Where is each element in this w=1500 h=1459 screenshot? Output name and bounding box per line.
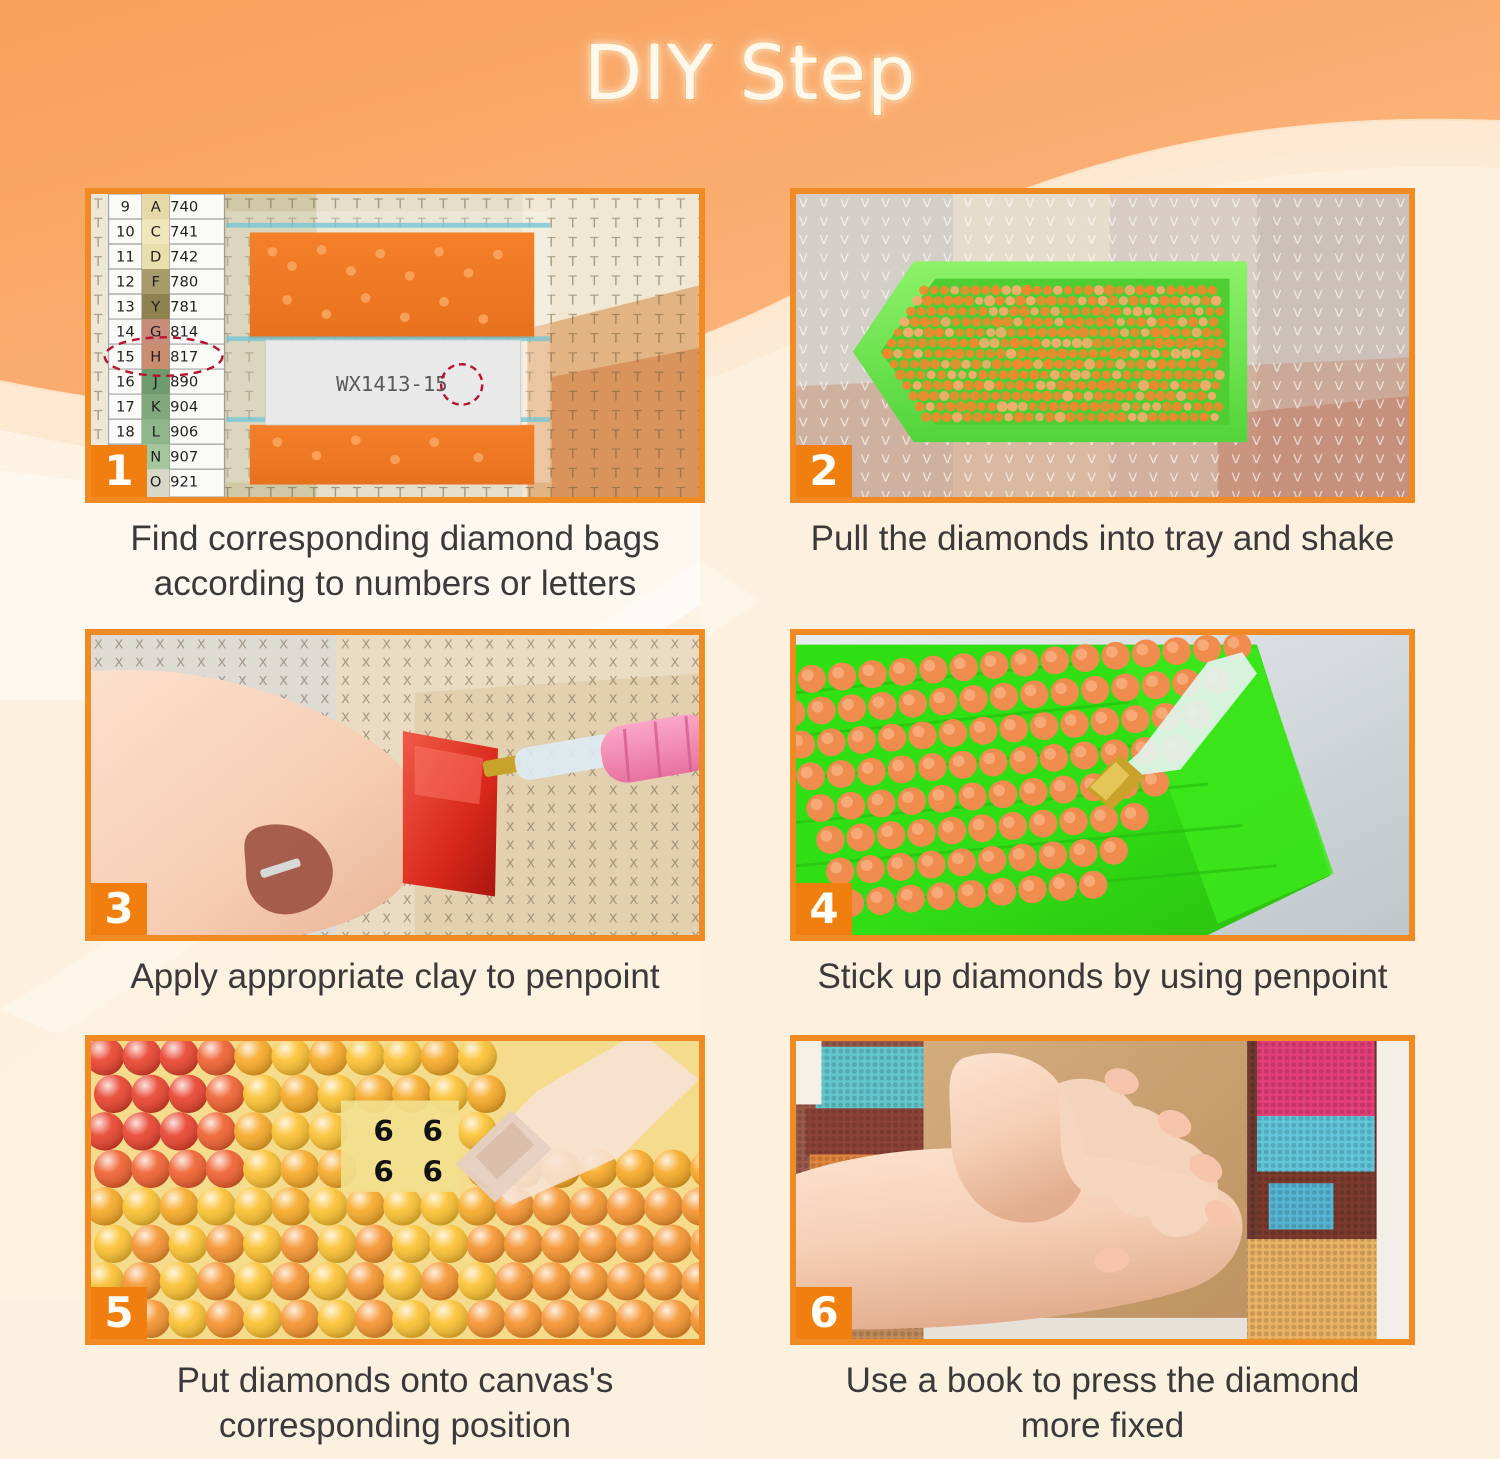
svg-text:17: 17 bbox=[116, 399, 135, 416]
step-caption-1: Find corresponding diamond bags accordin… bbox=[85, 503, 705, 629]
svg-text:6: 6 bbox=[422, 1114, 442, 1148]
svg-text:K: K bbox=[151, 399, 161, 416]
svg-text:907: 907 bbox=[170, 449, 198, 466]
diamond-bag: WX1413-15 bbox=[226, 211, 550, 484]
svg-text:742: 742 bbox=[170, 248, 198, 265]
svg-text:780: 780 bbox=[170, 273, 198, 290]
svg-text:904: 904 bbox=[170, 399, 198, 416]
steps-grid: T bbox=[85, 188, 1415, 1459]
svg-text:817: 817 bbox=[170, 348, 198, 365]
step-card-5: 6666 5 Put diamonds onto canvas's corres… bbox=[85, 1035, 705, 1459]
svg-text:906: 906 bbox=[170, 424, 198, 441]
svg-text:6: 6 bbox=[422, 1155, 442, 1189]
red-clay bbox=[403, 731, 498, 896]
svg-text:H: H bbox=[150, 348, 161, 365]
svg-text:9: 9 bbox=[121, 198, 130, 215]
svg-text:N: N bbox=[150, 449, 161, 466]
svg-text:11: 11 bbox=[116, 248, 135, 265]
svg-text:10: 10 bbox=[116, 223, 135, 240]
step-caption-3: Apply appropriate clay to penpoint bbox=[85, 941, 705, 1035]
step-badge-6: 6 bbox=[796, 1287, 852, 1339]
svg-text:781: 781 bbox=[170, 298, 198, 315]
step-6-photo bbox=[796, 1041, 1409, 1339]
artwork-right bbox=[1242, 1041, 1409, 1339]
step-caption-4: Stick up diamonds by using penpoint bbox=[790, 941, 1415, 1035]
step-3-image-frame: X bbox=[85, 629, 705, 941]
svg-text:6: 6 bbox=[373, 1155, 393, 1189]
step-1-image-frame: T bbox=[85, 188, 705, 503]
step-2-image-frame: V bbox=[790, 188, 1415, 503]
svg-text:921: 921 bbox=[170, 474, 198, 491]
step-badge-3: 3 bbox=[91, 883, 147, 935]
svg-text:741: 741 bbox=[170, 223, 198, 240]
svg-text:Y: Y bbox=[150, 298, 160, 315]
svg-text:16: 16 bbox=[116, 374, 135, 391]
step-5-image-frame: 6666 5 bbox=[85, 1035, 705, 1345]
svg-text:13: 13 bbox=[116, 298, 135, 315]
step-card-3: X bbox=[85, 629, 705, 1035]
bag-label-text: WX1413-15 bbox=[336, 372, 447, 396]
svg-text:890: 890 bbox=[170, 374, 198, 391]
step-3-photo: X bbox=[91, 635, 699, 935]
svg-text:12: 12 bbox=[116, 273, 135, 290]
svg-text:O: O bbox=[150, 474, 162, 491]
step-5-photo: 6666 bbox=[91, 1041, 699, 1339]
svg-text:L: L bbox=[152, 424, 161, 441]
step-4-photo bbox=[796, 635, 1409, 935]
svg-text:D: D bbox=[150, 248, 161, 265]
step-2-photo: V bbox=[796, 194, 1409, 497]
step-card-2: V bbox=[790, 188, 1415, 629]
svg-text:A: A bbox=[151, 198, 161, 215]
green-tray bbox=[853, 261, 1247, 442]
step-badge-5: 5 bbox=[91, 1287, 147, 1339]
step-card-1: T bbox=[85, 188, 705, 629]
step-badge-1: 1 bbox=[91, 445, 147, 497]
step-card-6: 6 Use a book to press the diamond more f… bbox=[790, 1035, 1415, 1459]
svg-text:6: 6 bbox=[373, 1114, 393, 1148]
step-caption-5: Put diamonds onto canvas's corresponding… bbox=[85, 1345, 705, 1459]
step-badge-2: 2 bbox=[796, 445, 852, 497]
step-4-image-frame: 4 bbox=[790, 629, 1415, 941]
step-caption-2: Pull the diamonds into tray and shake bbox=[790, 503, 1415, 629]
svg-text:740: 740 bbox=[170, 198, 198, 215]
svg-text:14: 14 bbox=[116, 323, 135, 340]
svg-text:18: 18 bbox=[116, 424, 135, 441]
svg-text:F: F bbox=[151, 273, 159, 290]
step-1-photo: T bbox=[91, 194, 699, 497]
svg-text:15: 15 bbox=[116, 348, 135, 365]
step-caption-6: Use a book to press the diamond more fix… bbox=[790, 1345, 1415, 1459]
step-card-4: 4 Stick up diamonds by using penpoint bbox=[790, 629, 1415, 1035]
step-6-image-frame: 6 bbox=[790, 1035, 1415, 1345]
svg-text:C: C bbox=[151, 223, 161, 240]
step-badge-4: 4 bbox=[796, 883, 852, 935]
